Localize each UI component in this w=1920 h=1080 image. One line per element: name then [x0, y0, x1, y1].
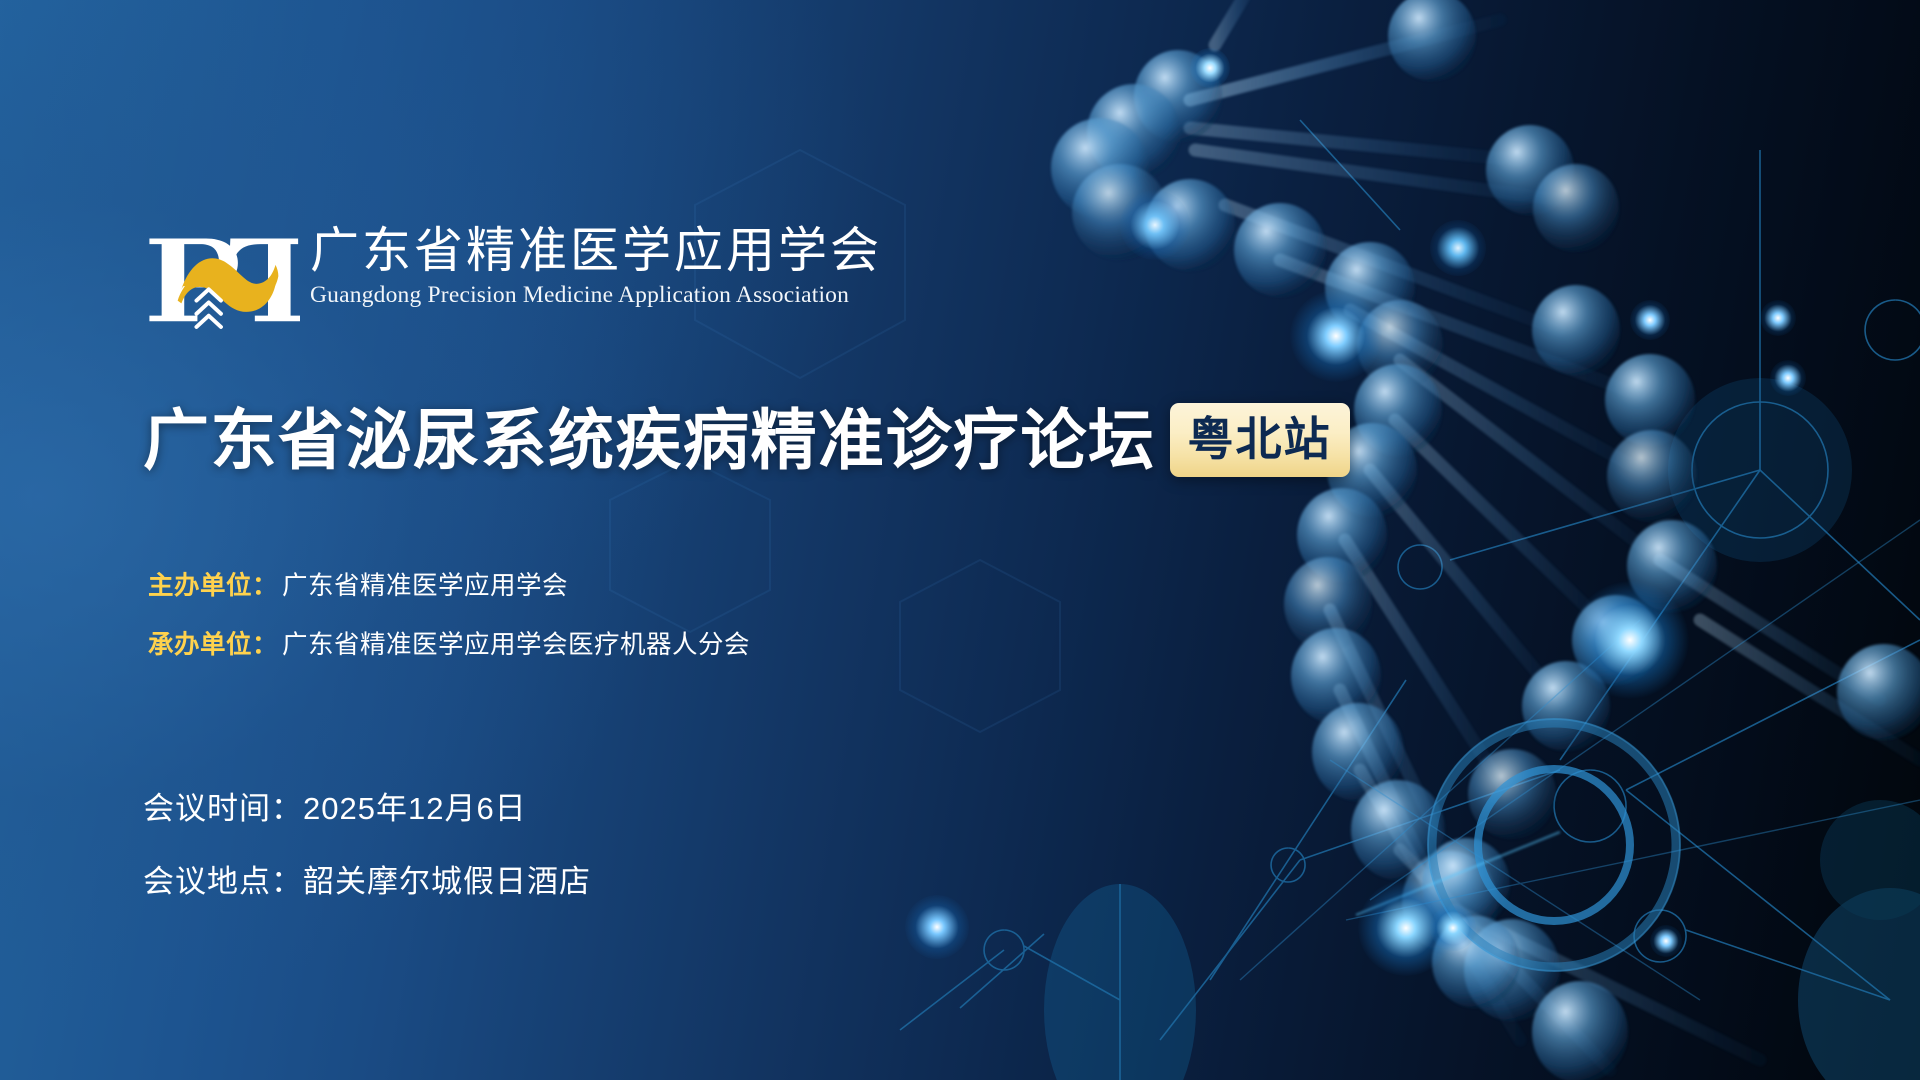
page-title: 广东省泌尿系统疾病精准诊疗论坛	[143, 407, 1156, 473]
organizer-row-host: 主办单位： 广东省精准医学应用学会	[148, 565, 750, 602]
organizer-value-host: 广东省精准医学应用学会	[282, 565, 568, 602]
organizer-label-coorganizer: 承办单位：	[148, 624, 278, 661]
region-badge: 粤北站	[1170, 403, 1350, 477]
conference-banner: 广东省精准医学应用学会 Guangdong Precision Medicine…	[0, 0, 1920, 1080]
organizer-row-coorganizer: 承办单位： 广东省精准医学应用学会医疗机器人分会	[148, 624, 750, 661]
organizer-label-host: 主办单位：	[148, 565, 278, 602]
organizers-block: 主办单位： 广东省精准医学应用学会 承办单位： 广东省精准医学应用学会医疗机器人…	[148, 565, 750, 683]
association-name-en: Guangdong Precision Medicine Application…	[310, 282, 882, 309]
poster-content: 广东省精准医学应用学会 Guangdong Precision Medicine…	[0, 0, 1920, 1080]
association-logo: 广东省精准医学应用学会 Guangdong Precision Medicine…	[140, 222, 882, 332]
meeting-details-block: 会议时间：2025年12月6日 会议地点：韶关摩尔城假日酒店	[143, 783, 591, 929]
pm-monogram-logo-icon	[140, 224, 300, 332]
association-name-block: 广东省精准医学应用学会 Guangdong Precision Medicine…	[310, 222, 882, 309]
association-name-cn: 广东省精准医学应用学会	[310, 226, 882, 275]
meeting-time: 会议时间：2025年12月6日	[143, 783, 591, 828]
meeting-location: 会议地点：韶关摩尔城假日酒店	[143, 856, 591, 901]
event-title-row: 广东省泌尿系统疾病精准诊疗论坛 粤北站	[143, 403, 1350, 477]
organizer-value-coorganizer: 广东省精准医学应用学会医疗机器人分会	[282, 624, 750, 661]
